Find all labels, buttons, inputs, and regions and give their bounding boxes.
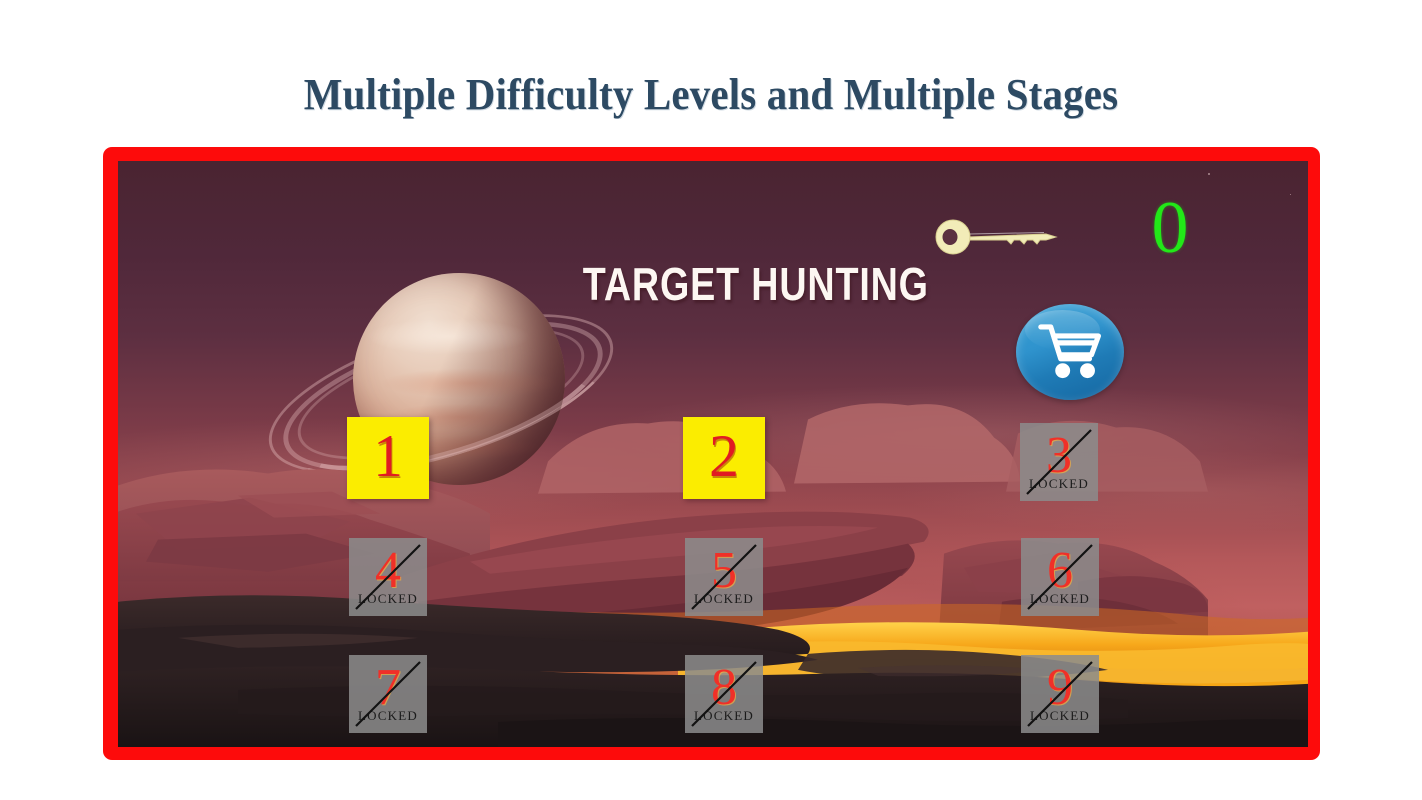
locked-label: LOCKED xyxy=(349,591,427,607)
screenshot-root: Multiple Difficulty Levels and Multiple … xyxy=(0,0,1422,800)
level-number: 7 xyxy=(349,661,427,715)
level-number: 8 xyxy=(685,661,763,715)
key-count-value: 0 xyxy=(1130,191,1210,265)
locked-label: LOCKED xyxy=(1021,708,1099,724)
level-number: 2 xyxy=(683,417,765,499)
level-tile-8[interactable]: 8 LOCKED xyxy=(685,655,763,733)
level-tile-7[interactable]: 7 LOCKED xyxy=(349,655,427,733)
shop-button[interactable] xyxy=(1016,304,1124,400)
page-title: Multiple Difficulty Levels and Multiple … xyxy=(50,69,1372,120)
level-tile-3[interactable]: 3 LOCKED xyxy=(1020,423,1098,501)
level-number: 9 xyxy=(1021,661,1099,715)
locked-label: LOCKED xyxy=(1020,476,1098,492)
level-number: 1 xyxy=(347,417,429,499)
locked-label: LOCKED xyxy=(685,708,763,724)
game-title: TARGET HUNTING xyxy=(583,261,845,307)
level-number: 4 xyxy=(349,544,427,598)
level-tile-6[interactable]: 6 LOCKED xyxy=(1021,538,1099,616)
level-number: 5 xyxy=(685,544,763,598)
game-screen: TARGET HUNTING 0 xyxy=(118,161,1308,747)
level-tile-9[interactable]: 9 LOCKED xyxy=(1021,655,1099,733)
level-number: 3 xyxy=(1020,429,1098,483)
key-icon xyxy=(928,219,1061,255)
level-tile-1[interactable]: 1 xyxy=(347,417,429,499)
locked-label: LOCKED xyxy=(1021,591,1099,607)
locked-label: LOCKED xyxy=(685,591,763,607)
locked-label: LOCKED xyxy=(349,708,427,724)
game-screen-frame: TARGET HUNTING 0 xyxy=(103,147,1320,760)
level-tile-4[interactable]: 4 LOCKED xyxy=(349,538,427,616)
shopping-cart-icon xyxy=(1034,323,1105,381)
level-number: 6 xyxy=(1021,544,1099,598)
level-tile-2[interactable]: 2 xyxy=(683,417,765,499)
level-tile-5[interactable]: 5 LOCKED xyxy=(685,538,763,616)
